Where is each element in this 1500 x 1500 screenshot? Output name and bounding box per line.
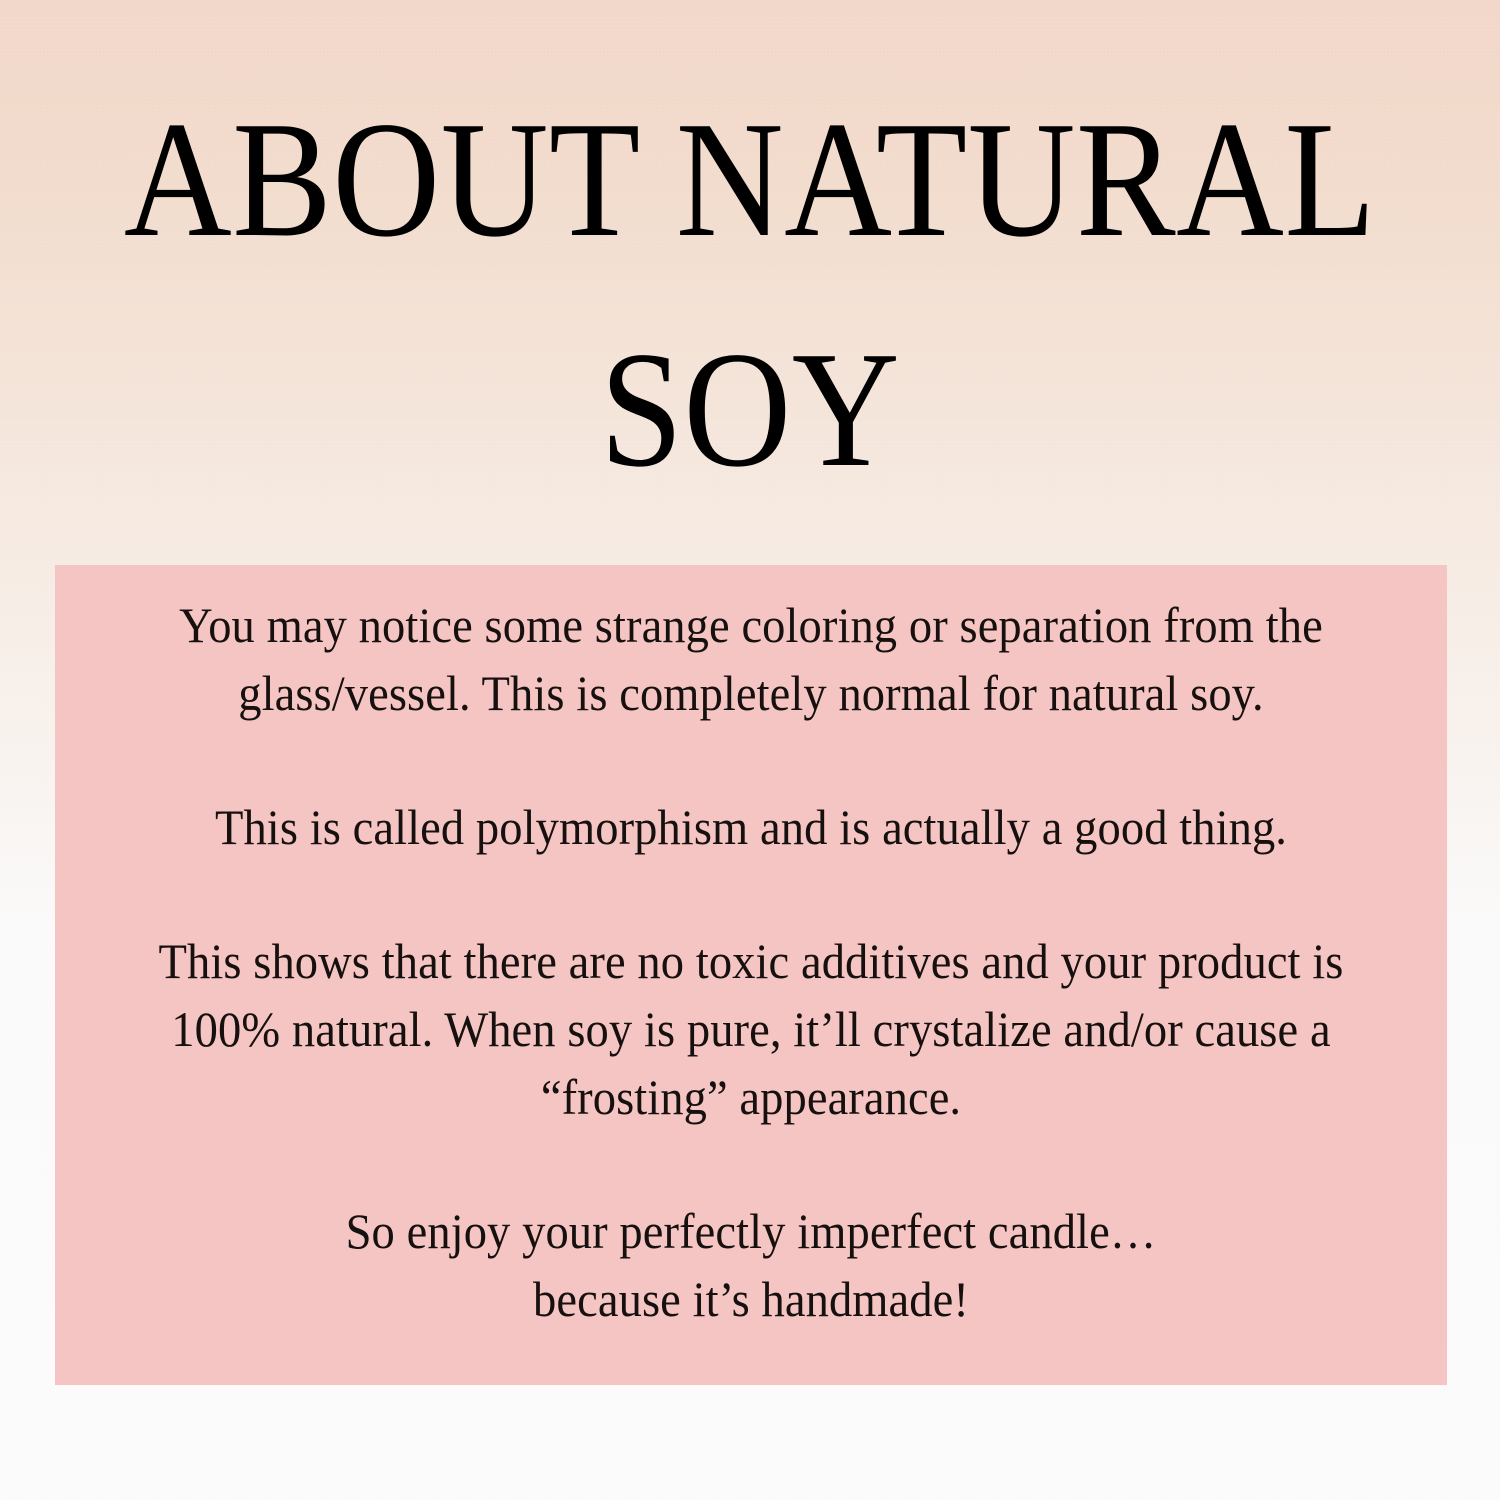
paragraph-line: So enjoy your perfectly imperfect candle… — [141, 1197, 1361, 1265]
paragraph-line: glass/vessel. This is completely normal … — [141, 659, 1361, 727]
paragraph-1: You may notice some strange coloring or … — [141, 591, 1361, 727]
paragraph-line: because it’s handmade! — [141, 1265, 1361, 1333]
paragraph-line: You may notice some strange coloring or … — [141, 591, 1361, 659]
paragraph-line: This shows that there are no toxic addit… — [141, 927, 1361, 995]
paragraph-4: So enjoy your perfectly imperfect candle… — [141, 1197, 1361, 1333]
info-panel: You may notice some strange coloring or … — [55, 565, 1447, 1385]
paragraph-2: This is called polymorphism and is actua… — [141, 793, 1361, 861]
page-title-line-2: SOY — [75, 326, 1425, 492]
info-panel-text-block: You may notice some strange coloring or … — [95, 591, 1407, 1333]
paragraph-line: This is called polymorphism and is actua… — [141, 793, 1361, 861]
poster-canvas: ABOUT NATURAL SOY You may notice some st… — [0, 0, 1500, 1500]
paragraph-line: 100% natural. When soy is pure, it’ll cr… — [141, 995, 1361, 1063]
paragraph-3: This shows that there are no toxic addit… — [141, 927, 1361, 1131]
page-title-line-1: ABOUT NATURAL — [75, 96, 1425, 262]
paragraph-line: “frosting” appearance. — [141, 1063, 1361, 1131]
